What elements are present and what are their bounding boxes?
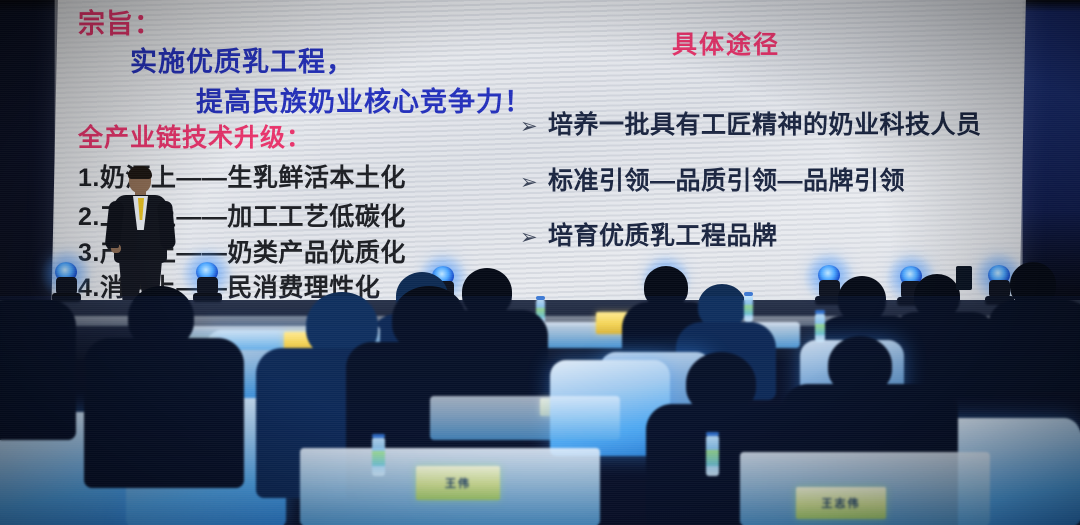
speaker-hair xyxy=(128,166,152,179)
audience-table xyxy=(430,396,620,440)
slide-right-bullet-label: 标准引领—品质引领—品牌引领 xyxy=(548,167,905,195)
smartphone xyxy=(956,266,972,290)
slide-right-bullet-label: 培育优质乳工程品牌 xyxy=(548,222,778,250)
name-placard-label: 王伟 xyxy=(445,475,471,491)
name-placard-label: 王志伟 xyxy=(822,495,861,511)
slide-subtitle-line1: 实施优质乳工程， xyxy=(130,40,354,79)
conference-photo: 宗旨： 实施优质乳工程， 提高民族奶业核心竞争力！ 全产业链技术升级： 1.奶源… xyxy=(0,0,1080,525)
bullet-arrow-icon: ➢ xyxy=(520,170,548,195)
name-placard: 王志伟 xyxy=(796,487,886,519)
slide-chain-label: 全产业链技术升级： xyxy=(78,118,312,154)
bullet-arrow-icon: ➢ xyxy=(520,114,548,139)
slide-right-bullet: ➢培养一批具有工匠精神的奶业科技人员 xyxy=(520,105,982,141)
slide-right-bullet: ➢标准引领—品质引领—品牌引领 xyxy=(520,161,905,197)
water-bottle xyxy=(706,436,719,476)
bullet-arrow-icon: ➢ xyxy=(520,225,548,250)
speaker-right-arm xyxy=(157,200,176,249)
slide-right-bullet-label: 培养一批具有工匠精神的奶业科技人员 xyxy=(548,111,982,139)
slide-purpose-label: 宗旨： xyxy=(78,2,162,41)
water-bottle xyxy=(744,296,753,322)
slide-subtitle-line2: 提高民族奶业核心竞争力！ xyxy=(196,80,532,119)
water-bottle xyxy=(815,314,825,342)
water-bottle xyxy=(372,438,385,476)
name-placard: 王伟 xyxy=(416,466,500,500)
slide-right-bullet: ➢培育优质乳工程品牌 xyxy=(520,216,778,252)
slide-paths-title: 具体途径 xyxy=(672,25,780,61)
presenter-clicker xyxy=(110,242,119,248)
